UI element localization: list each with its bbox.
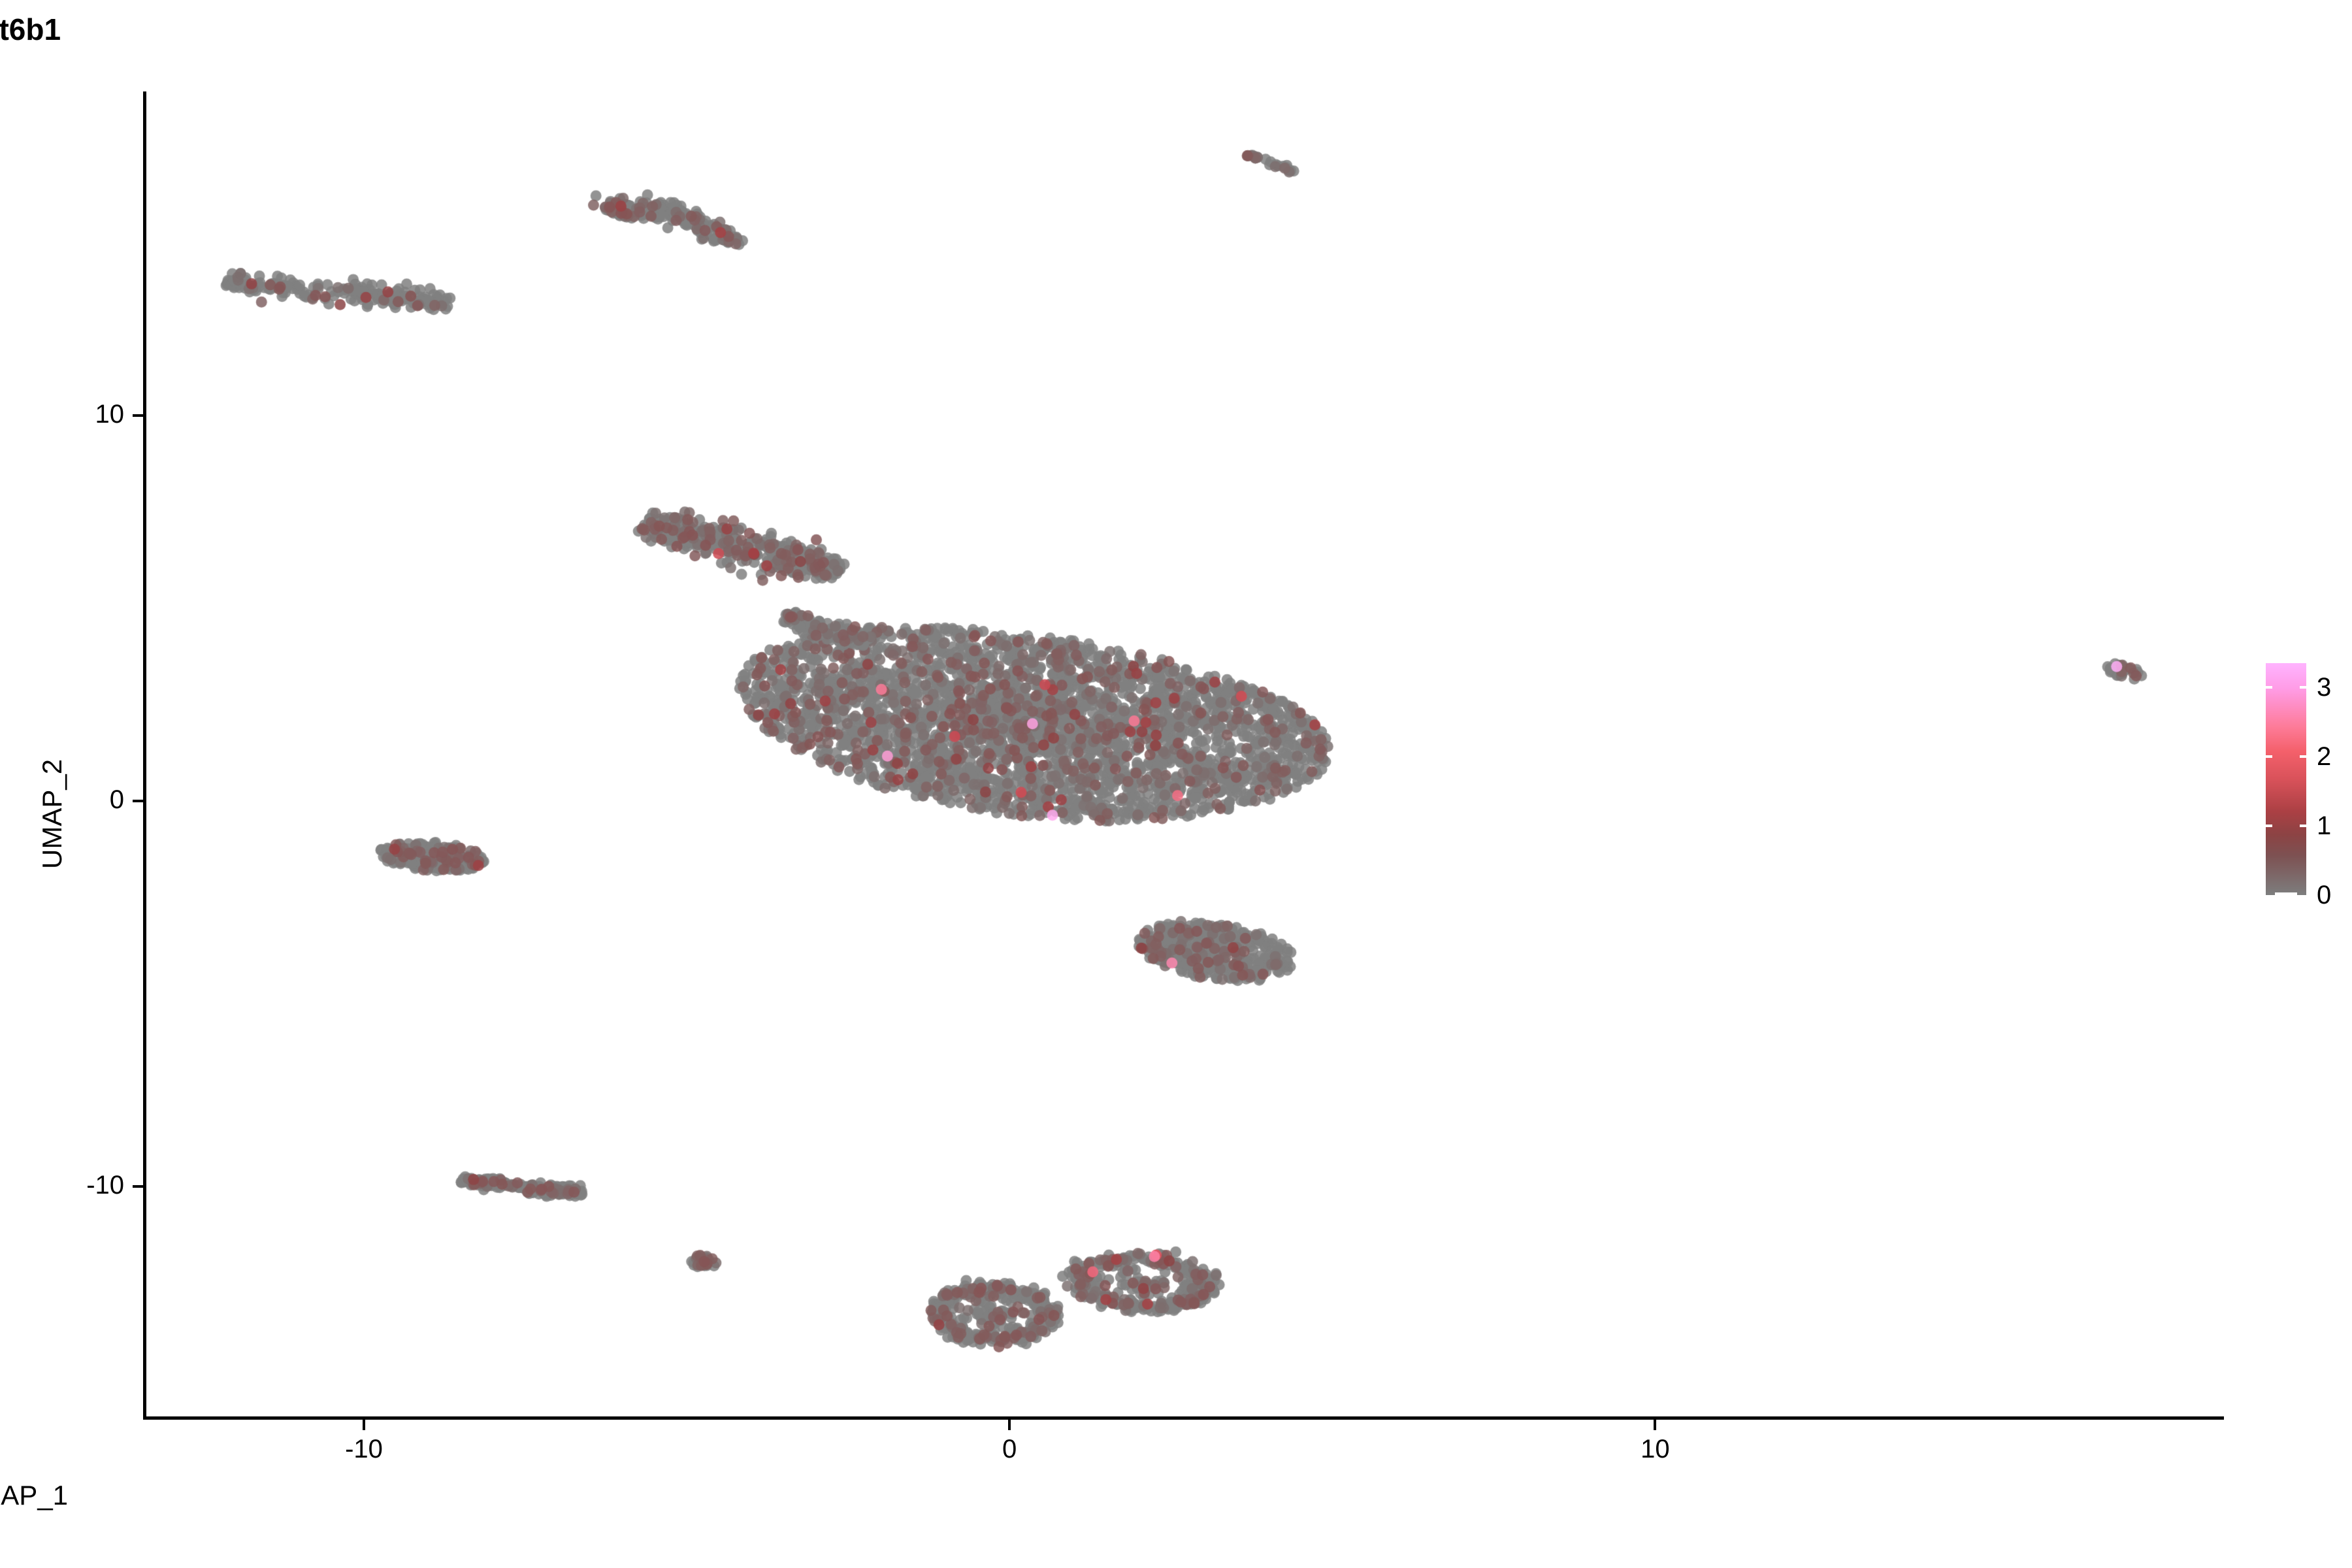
colorbar-gradient bbox=[2266, 663, 2306, 895]
y-tick-mark bbox=[133, 800, 143, 802]
colorbar-tick bbox=[2266, 825, 2272, 827]
x-tick-mark bbox=[1008, 1420, 1011, 1430]
umap-feature-plot: Sult6b1 -10010-10010 UMAP_1 UMAP_2 0123 bbox=[0, 0, 2352, 1568]
colorbar-tick bbox=[2300, 686, 2306, 689]
y-tick-label: -10 bbox=[0, 1171, 124, 1200]
x-tick-label: -10 bbox=[299, 1435, 429, 1464]
y-tick-label: 10 bbox=[0, 400, 124, 429]
colorbar-tick bbox=[2300, 825, 2306, 827]
x-tick-mark bbox=[1654, 1420, 1656, 1430]
y-tick-mark bbox=[133, 414, 143, 417]
y-tick-mark bbox=[133, 1185, 143, 1188]
y-axis-title: UMAP_2 bbox=[37, 759, 68, 869]
colorbar-tick bbox=[2300, 755, 2306, 758]
colorbar-label: 3 bbox=[2317, 674, 2331, 700]
colorbar-tick bbox=[2266, 755, 2272, 758]
colorbar-tick bbox=[2275, 892, 2297, 895]
x-axis-title: UMAP_1 bbox=[0, 1480, 1189, 1511]
x-tick-label: 0 bbox=[944, 1435, 1075, 1464]
scatter-points-canvas bbox=[144, 91, 2223, 1418]
x-axis-line bbox=[143, 1416, 2224, 1420]
colorbar-tick bbox=[2266, 686, 2272, 689]
y-axis-line bbox=[143, 91, 146, 1419]
colorbar-label: 1 bbox=[2317, 813, 2331, 839]
page-title: Sult6b1 bbox=[0, 12, 1183, 47]
colorbar-label: 0 bbox=[2317, 882, 2331, 908]
x-tick-mark bbox=[363, 1420, 365, 1430]
colorbar-label: 2 bbox=[2317, 743, 2331, 770]
x-tick-label: 10 bbox=[1590, 1435, 1720, 1464]
